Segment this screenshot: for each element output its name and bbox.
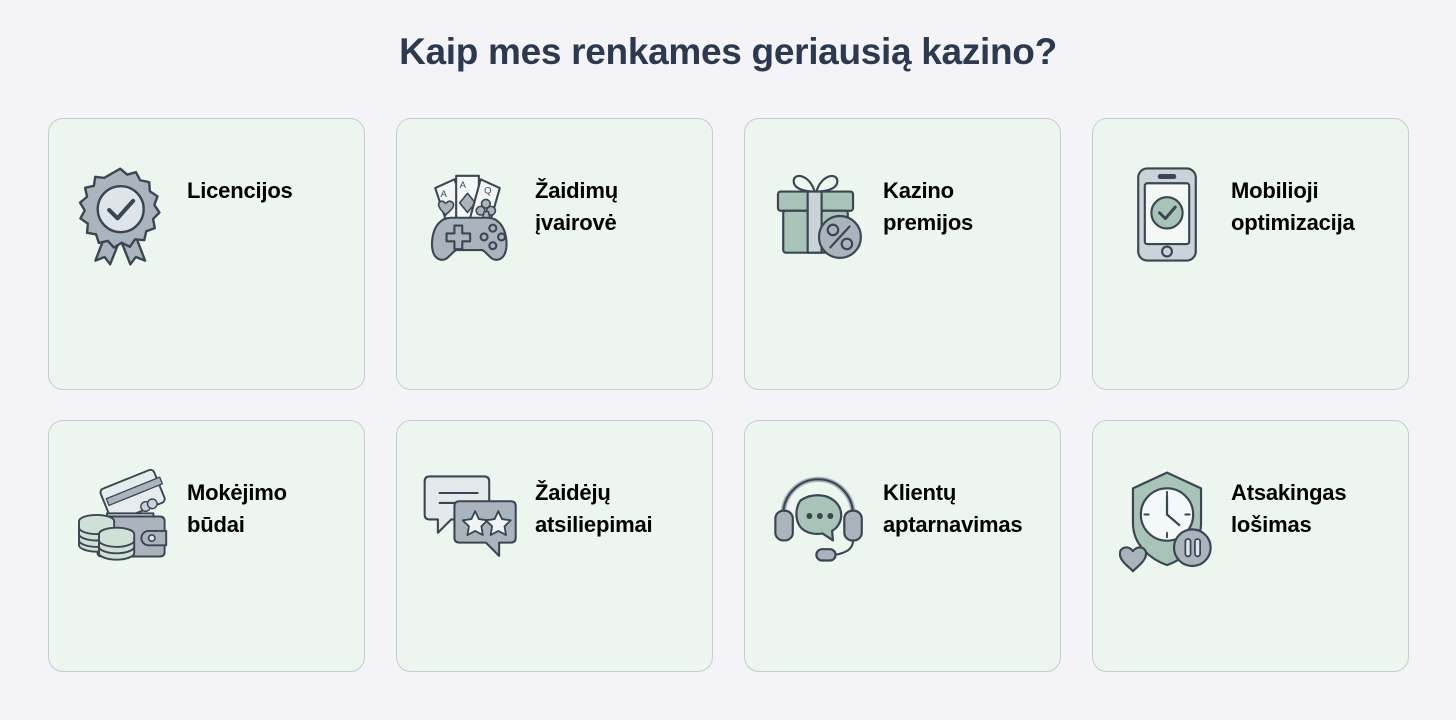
gift-percent-icon bbox=[771, 165, 867, 275]
criteria-card-label: Mokėjimo būdai bbox=[187, 467, 287, 541]
svg-text:A: A bbox=[440, 189, 447, 200]
criteria-card-licencijos[interactable]: Licencijos bbox=[48, 118, 365, 390]
criteria-card-label: Klientų aptarnavimas bbox=[883, 467, 1022, 541]
criteria-card-kazino-premijos[interactable]: Kazino premijos bbox=[744, 118, 1061, 390]
award-ribbon-check-icon bbox=[75, 165, 171, 275]
criteria-card-klientu-aptarnavimas[interactable]: Klientų aptarnavimas bbox=[744, 420, 1061, 672]
criteria-card-label: Atsakingas lošimas bbox=[1231, 467, 1346, 541]
criteria-card-label: Žaidėjų atsiliepimai bbox=[535, 467, 652, 541]
criteria-card-atsakingas-losimas[interactable]: Atsakingas lošimas bbox=[1092, 420, 1409, 672]
criteria-card-zaideju-atsiliepimai[interactable]: Žaidėjų atsiliepimai bbox=[396, 420, 713, 672]
speech-bubbles-stars-icon bbox=[423, 467, 519, 577]
criteria-card-zaidimu-ivairove[interactable]: A A Q bbox=[396, 118, 713, 390]
criteria-card-label: Kazino premijos bbox=[883, 165, 973, 239]
playing-cards-gamepad-icon: A A Q bbox=[423, 165, 519, 275]
shield-clock-pause-heart-icon bbox=[1119, 467, 1215, 577]
criteria-card-label: Žaidimų įvairovė bbox=[535, 165, 618, 239]
criteria-card-label: Mobilioji optimizacija bbox=[1231, 165, 1355, 239]
svg-text:Q: Q bbox=[484, 185, 491, 196]
criteria-card-grid: Licencijos A A Q bbox=[48, 118, 1408, 672]
criteria-card-label: Licencijos bbox=[187, 165, 293, 207]
mobile-phone-check-icon bbox=[1119, 165, 1215, 275]
infographic-page: Kaip mes renkames geriausią kazino? Lice… bbox=[0, 0, 1456, 720]
criteria-card-mokejimo-budai[interactable]: Mokėjimo būdai bbox=[48, 420, 365, 672]
wallet-card-coins-icon bbox=[75, 467, 171, 577]
svg-text:A: A bbox=[460, 180, 467, 191]
criteria-card-mobilioji-optimizacija[interactable]: Mobilioji optimizacija bbox=[1092, 118, 1409, 390]
page-title: Kaip mes renkames geriausią kazino? bbox=[0, 0, 1456, 73]
headset-support-icon bbox=[771, 467, 867, 577]
